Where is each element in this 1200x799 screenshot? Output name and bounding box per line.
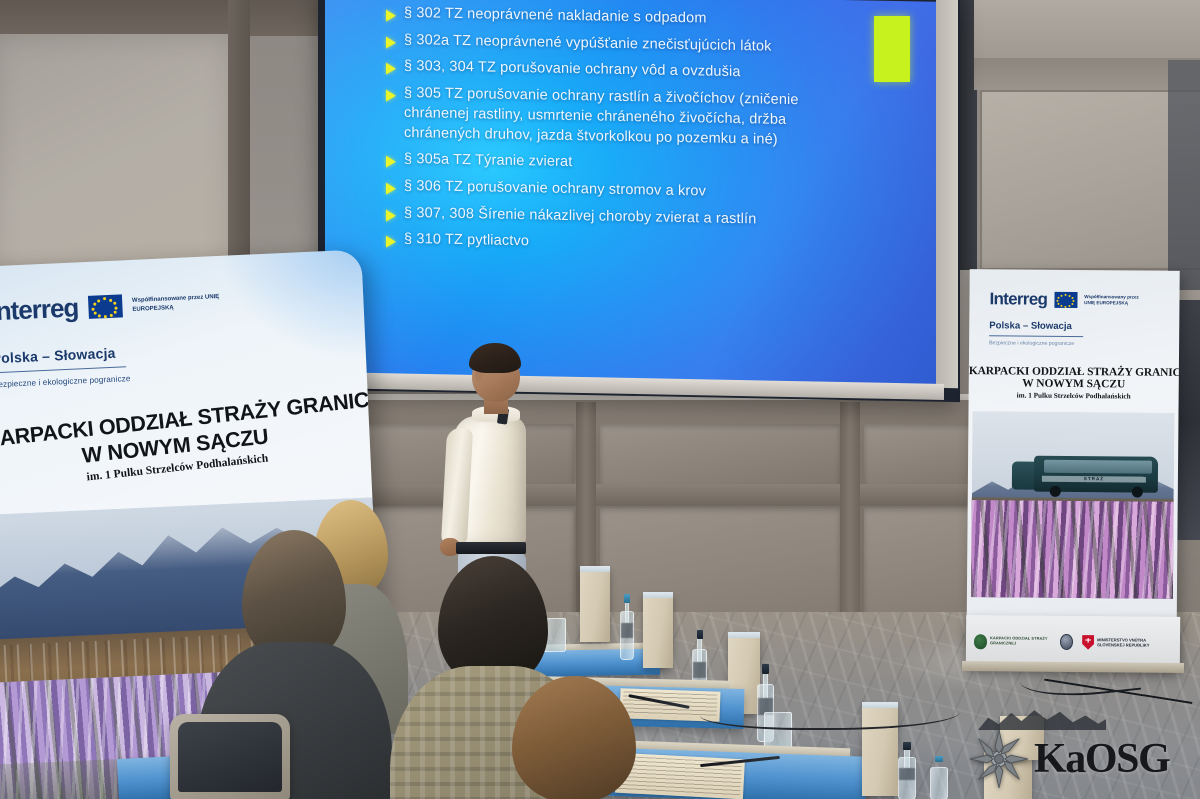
eu-cofunding-text: Współfinansowany przez UNIĘ EUROPEJSKĄ [1084, 294, 1146, 307]
ministerstvo-vnutra-logo: MINISTERSTVO VNÚTRA SLOVENSKEJ REPUBLIKY [1082, 635, 1172, 651]
banner-title-line1: KARPACKI ODDZIAŁ STRAŻY GRANICZNEJ [969, 365, 1179, 379]
slide-bullet-text: § 305 TZ porušovanie ochrany rastlín a ž… [404, 84, 866, 152]
chair-back [178, 722, 282, 792]
rollup-banner-right: Interreg Współfinansowany przez UNIĘ EUR… [966, 269, 1179, 671]
patrol-van-windows [1044, 460, 1152, 474]
bottle-cap [903, 742, 910, 750]
ministerstvo-vnutra-logo-text: MINISTERSTVO VNÚTRA SLOVENSKEJ REPUBLIKY [1097, 637, 1172, 648]
bottle-label [693, 662, 706, 678]
slide-bullet-text: § 310 TZ pytliactvo [404, 230, 529, 252]
water-bottle [898, 742, 916, 799]
bottle-cap [697, 630, 703, 639]
patrol-van-wheel-front [1050, 486, 1061, 497]
tabletop-box-top-2 [643, 592, 673, 598]
presenter-belt [456, 542, 526, 554]
water-bottle [930, 756, 948, 799]
banner-title-line2: W NOWYM SĄCZU [969, 377, 1179, 391]
chair [170, 714, 290, 799]
audience-head [512, 676, 636, 799]
conference-photo-scene: § 302 TZ neoprávnené nakladanie s odpado… [0, 0, 1200, 799]
bullet-triangle-icon [386, 63, 396, 75]
bottle-label [899, 768, 915, 781]
patrol-van-marking: STRAŻ [1042, 476, 1146, 483]
slide-bullet-text: § 303, 304 TZ porušovanie ochrany vôd a … [404, 57, 741, 83]
interreg-wordmark: Interreg [0, 292, 79, 327]
slide-bullet-text: § 305a TZ Týranie zvierat [404, 150, 572, 173]
tabletop-box-top-3 [728, 632, 760, 638]
wall-panel-right [980, 90, 1200, 270]
bullet-triangle-icon [386, 10, 396, 22]
wood-inset-3 [864, 424, 982, 486]
bottle-neck [697, 637, 702, 661]
screen-edge-right [936, 0, 958, 388]
interreg-logo-right: Interreg Współfinansowany przez UNIĘ EUR… [989, 289, 1146, 310]
bottle-body [930, 767, 948, 799]
karpacki-osg-logo-text: KARPACKI ODDZIAŁ STRAŻY GRANICZNEJ [990, 636, 1051, 646]
tabletop-box-2 [643, 594, 673, 668]
bullet-triangle-icon [386, 236, 396, 248]
slide-bullet-2: § 302a TZ neoprávnené vypúšťanie znečisť… [386, 30, 866, 59]
bullet-triangle-icon [386, 209, 396, 221]
banner-title-right: KARPACKI ODDZIAŁ STRAŻY GRANICZNEJ W NOW… [969, 365, 1179, 401]
bullet-triangle-icon [386, 90, 396, 102]
border-guard-star-emblem-icon [968, 728, 1030, 790]
bottle-cap [762, 664, 769, 674]
watermark: KaOSG [968, 722, 1192, 796]
interreg-wordmark: Interreg [989, 289, 1047, 310]
bottle-label [621, 623, 633, 638]
banner-title-left: KARPACKI ODDZIAŁ STRAŻY GRANICZNEJ W NOW… [0, 389, 366, 494]
interreg-logo-left: Interreg Współfinansowane przez UNIĘ EUR… [0, 286, 221, 327]
eu-flag-icon [1054, 292, 1077, 308]
wall-rail-top-left [0, 0, 320, 36]
wood-rail-mid [330, 484, 990, 506]
bullet-triangle-icon [386, 156, 396, 168]
programme-name-right: Polska – Słowacja [989, 320, 1072, 332]
banner-tagline-left: Bezpieczne i ekologiczne pogranicze [0, 374, 131, 389]
wall-panel-upper-left [0, 34, 232, 286]
presenter-hair [469, 343, 521, 373]
slide-accent-rectangle [874, 16, 910, 82]
wall-panel-right-top [974, 0, 1200, 58]
photo-lupine-texture [971, 500, 1174, 598]
eu-flag-icon [88, 294, 123, 319]
bottle-neck [625, 601, 630, 623]
slide-bullet-5: § 305a TZ Týranie zvierat [386, 150, 866, 179]
wall-rail-right [974, 58, 1200, 90]
water-bottle [620, 594, 634, 660]
eu-cofunding-text: Współfinansowane przez UNIĘ EUROPEJSKĄ [132, 293, 221, 313]
patrol-van-wheel-rear [1132, 487, 1143, 498]
watermark-text: KaOSG [1034, 735, 1169, 783]
banner-tagline-right: Bezpieczne i ekologiczne pogranicze [989, 340, 1074, 347]
wood-inset-2 [600, 424, 840, 486]
slide-bullet-6: § 306 TZ porušovanie ochrany stromov a k… [386, 177, 866, 206]
slide-bullet-text: § 302 TZ neoprávnené nakladanie s odpado… [404, 4, 707, 29]
banner-divider-left [0, 366, 126, 373]
slovak-coat-of-arms-icon [1082, 635, 1094, 650]
bottle-cap [624, 594, 630, 603]
programme-name-left: Polska – Słowacja [0, 345, 116, 367]
slide-bullet-3: § 303, 304 TZ porušovanie ochrany vôd a … [386, 57, 866, 86]
bullet-triangle-icon [386, 183, 396, 195]
slide-bullet-7: § 307, 308 Šírenie nákazlivej choroby zv… [386, 203, 866, 232]
audience-member-front-row [500, 676, 650, 799]
slide-bullet-text: § 307, 308 Šírenie nákazlivej choroby zv… [404, 204, 756, 230]
bottle-neck [904, 748, 910, 768]
banner-divider-right [989, 335, 1083, 337]
banner-right-photo: STRAŻ [971, 411, 1175, 599]
slide-bullet-8: § 310 TZ pytliactvo [386, 230, 866, 259]
slide-bullet-text: § 302a TZ neoprávnené vypúšťanie znečisť… [404, 31, 772, 57]
floor-cable-3 [700, 694, 960, 730]
bottle-cap [935, 756, 942, 762]
karpacki-osg-logo: KARPACKI ODDZIAŁ STRAŻY GRANICZNEJ [974, 634, 1052, 650]
bullet-triangle-icon [386, 36, 396, 48]
programme-emblem-icon [1060, 634, 1073, 650]
slide-content: § 302 TZ neoprávnené nakladanie s odpado… [386, 4, 866, 266]
border-guard-badge-icon [974, 634, 987, 649]
slide-bullet-4: § 305 TZ porušovanie ochrany rastlín a ž… [386, 84, 866, 152]
wall-niche-upper-right [1168, 60, 1200, 290]
slide-bullet-text: § 306 TZ porušovanie ochrany stromov a k… [404, 177, 706, 202]
